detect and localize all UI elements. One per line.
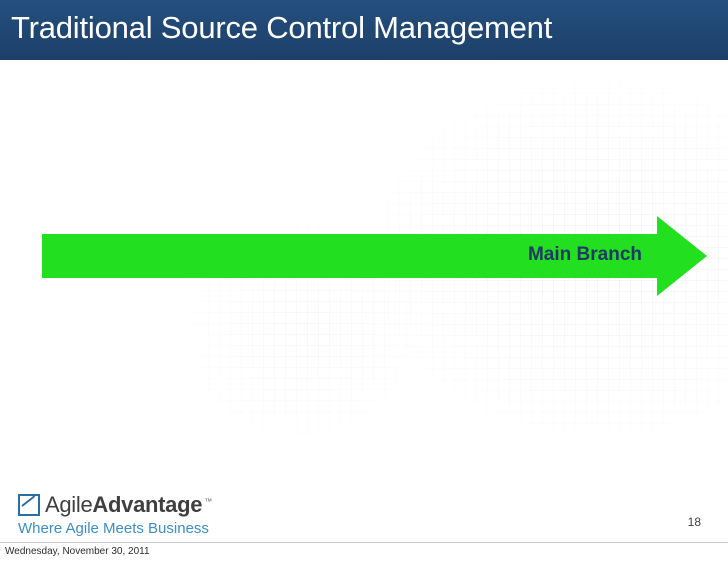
main-branch-arrow: Main Branch [42,216,707,296]
slide: Traditional Source Control Management Ma… [0,0,728,561]
slide-footer: Wednesday, November 30, 2011 [0,542,728,561]
slide-number: 18 [688,515,701,529]
slide-title-bar: Traditional Source Control Management [0,0,728,60]
company-logo: AgileAdvantage™ Where Agile Meets Busine… [18,492,248,542]
logo-wordmark: AgileAdvantage™ [45,492,212,518]
footer-date: Wednesday, November 30, 2011 [5,546,150,557]
page-title: Traditional Source Control Management [11,8,723,48]
logo-name-row: AgileAdvantage™ [18,492,248,518]
arrow-label: Main Branch [528,244,642,266]
logo-tagline: Where Agile Meets Business [18,520,248,537]
checkbox-logo-icon [18,494,40,516]
logo-name-light: Agile [45,492,92,517]
logo-name-bold: Advantage [92,492,202,517]
slide-body: Main Branch AgileAdvantage™ Where Agile … [0,60,728,542]
logo-trademark: ™ [204,497,212,506]
